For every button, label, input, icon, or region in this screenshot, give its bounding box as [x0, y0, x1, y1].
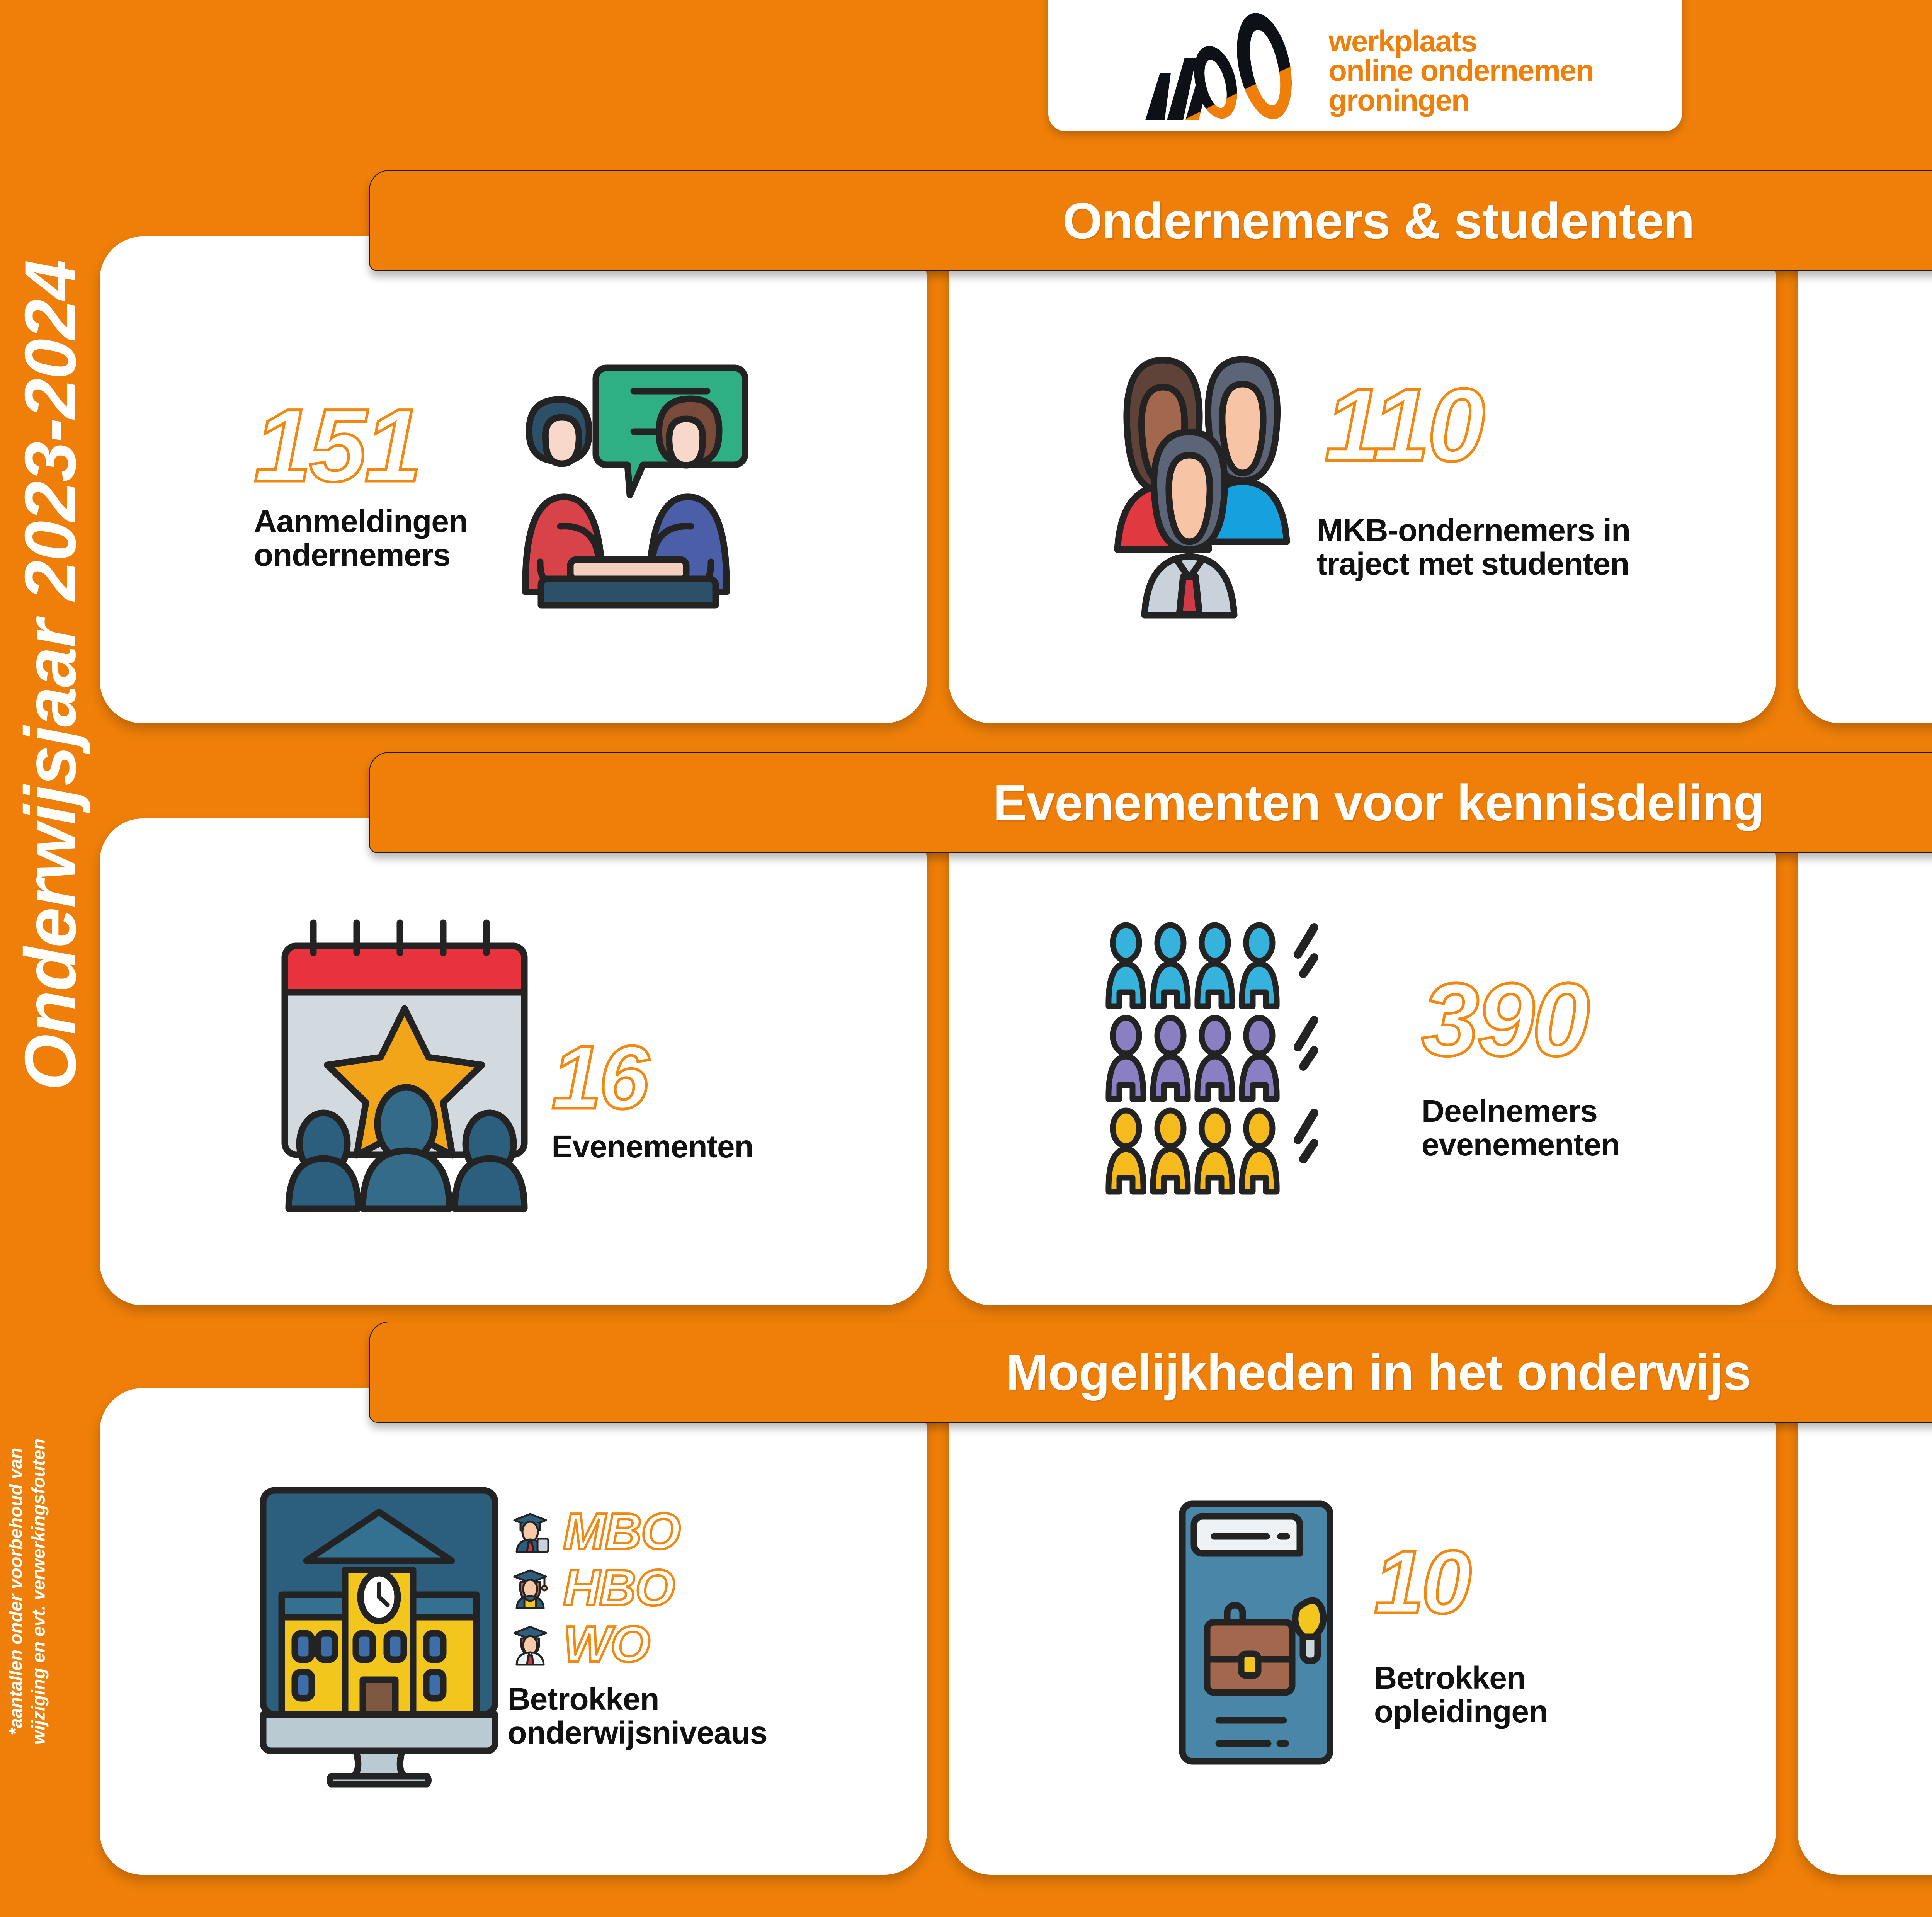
- two-people-talking-icon: [479, 345, 773, 615]
- logo-line-3: groningen: [1328, 85, 1593, 115]
- logo-line-1: werkplaats: [1328, 26, 1593, 56]
- stat-card-studenten-in-traject[interactable]: 519 Studenten in traject met ondernemers: [1798, 236, 1932, 723]
- stat-label-line-2: opleidingen: [1374, 1695, 1548, 1729]
- stat-label-line-2: onderwijsniveaus: [507, 1716, 767, 1750]
- section-banner: Evenementen voor kennisdeling: [369, 752, 1932, 853]
- people-grid-icon: [1105, 923, 1422, 1201]
- stat-number: 16: [551, 1041, 646, 1114]
- education-level-label: WO: [563, 1619, 649, 1670]
- education-level-label: MBO: [563, 1506, 680, 1557]
- stat-card-deelnemers-evenementen[interactable]: 390 Deelnemers evenementen: [949, 818, 1776, 1305]
- woo-logo-icon: [1137, 8, 1318, 120]
- section-title: Evenementen voor kennisdeling: [993, 774, 1764, 832]
- stat-label-line-1: MKB-ondernemers in: [1317, 514, 1630, 548]
- section-title: Ondernemers & studenten: [1063, 192, 1694, 250]
- three-people-group-icon: [1094, 333, 1311, 627]
- stat-label-line-1: Betrokken: [507, 1683, 767, 1716]
- education-levels-list: MBO: [507, 1506, 680, 1670]
- school-on-monitor-icon: [259, 1479, 499, 1784]
- disclaimer-line-1: *aantallen onder voorbehoud van: [4, 1379, 27, 1804]
- disclaimer-line-2: wijziging en evt. verwerkingsfouten: [27, 1379, 50, 1804]
- stat-card-betrokken-onderwijstrajecten[interactable]: 59 Betrokken onderwijstrajecten: [1798, 1388, 1932, 1875]
- logo-card: werkplaats online ondernemen groningen: [1048, 0, 1682, 131]
- stat-label-line-1: Aanmeldingen: [254, 505, 468, 539]
- stat-number: 390: [1422, 977, 1587, 1062]
- stat-label-line-2: ondernemers: [254, 539, 468, 572]
- logo-wordmark: werkplaats online ondernemen groningen: [1328, 26, 1593, 120]
- stat-number: 110: [1325, 383, 1483, 468]
- stat-card-kennisbank-artikelen[interactable]: 9 Kenni: [1798, 818, 1932, 1305]
- stat-card-mkb-ondernemers[interactable]: 110 MKB-ondernemers in traject met stude…: [949, 236, 1776, 723]
- left-rail: Onderwijsjaar 2023-2024 *aantallen onder…: [0, 0, 89, 1917]
- stat-card-evenementen[interactable]: 16 Evenementen: [100, 818, 927, 1305]
- stat-number: 151: [254, 403, 420, 488]
- education-level-label: HBO: [563, 1562, 674, 1613]
- stat-card-aanmeldingen-ondernemers[interactable]: 151 Aanmeldingen ondernemers: [100, 236, 927, 723]
- year-title: Onderwijsjaar 2023-2024: [9, 38, 92, 1313]
- stat-label-line-2: evenementen: [1422, 1128, 1620, 1162]
- stat-label-line-2: traject met studenten: [1317, 548, 1630, 581]
- stat-number: 10: [1374, 1546, 1469, 1619]
- logo-line-2: online ondernemen: [1328, 56, 1593, 85]
- stat-card-betrokken-opleidingen[interactable]: 10 Betrokken opleidingen: [949, 1388, 1776, 1875]
- stat-card-betrokken-onderwijsniveaus[interactable]: MBO: [100, 1388, 927, 1875]
- graduate-avatar-icon: [507, 1509, 553, 1554]
- education-level-row: MBO: [507, 1506, 680, 1557]
- section-banner: Mogelijkheden in het onderwijs: [369, 1322, 1932, 1423]
- stat-label-line-1: Betrokken: [1374, 1662, 1548, 1695]
- disclaimer-note: *aantallen onder voorbehoud van wijzigin…: [4, 1379, 50, 1804]
- book-briefcase-icon: [1177, 1492, 1359, 1771]
- education-level-row: HBO: [507, 1562, 680, 1613]
- section-banner: Ondernemers & studenten: [369, 170, 1932, 271]
- stat-label-line-1: Deelnemers: [1422, 1095, 1620, 1128]
- section-title: Mogelijkheden in het onderwijs: [1006, 1343, 1751, 1402]
- graduate-avatar-icon: [507, 1621, 553, 1667]
- calendar-star-audience-icon: [273, 915, 544, 1209]
- graduate-avatar-icon: [507, 1565, 553, 1611]
- stat-label-line-1: Evenementen: [551, 1130, 753, 1164]
- education-level-row: WO: [507, 1619, 680, 1670]
